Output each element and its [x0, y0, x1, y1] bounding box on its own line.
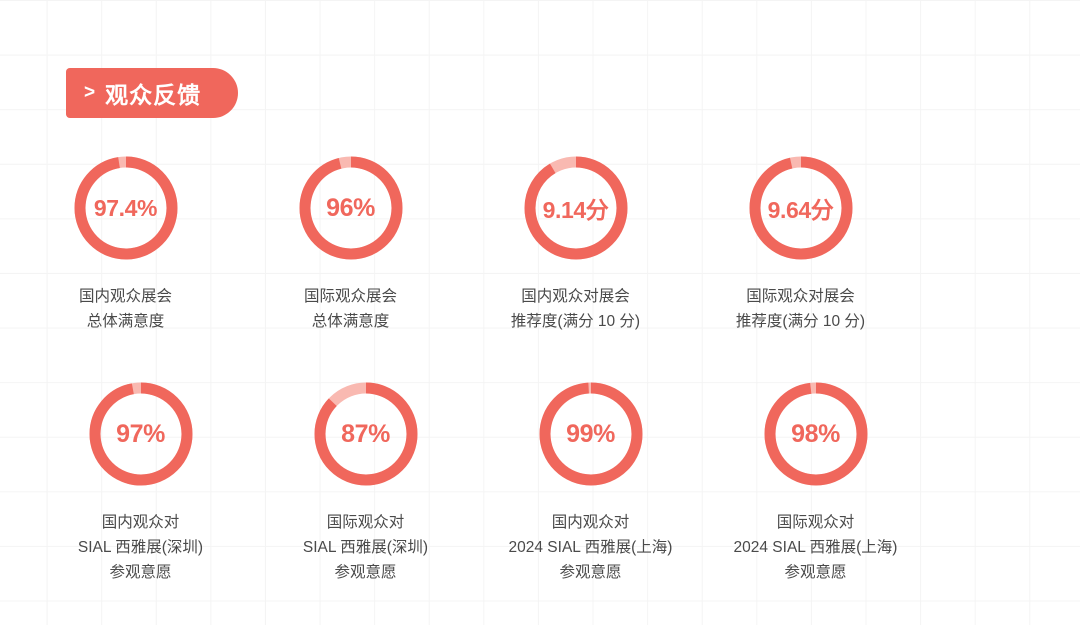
- stat-label: 国际观众对SIAL 西雅展(深圳)参观意愿: [303, 510, 428, 585]
- stat-label-line: 国际观众展会: [304, 284, 397, 309]
- stat-label: 国际观众对展会推荐度(满分 10 分): [736, 284, 865, 334]
- section-title: 观众反馈: [105, 76, 201, 110]
- stat-label: 国际观众对2024 SIAL 西雅展(上海)参观意愿: [734, 510, 898, 585]
- stat-label: 国内观众对SIAL 西雅展(深圳)参观意愿: [78, 510, 203, 585]
- stat-label: 国内观众展会总体满意度: [79, 284, 172, 334]
- stat-label-line: 总体满意度: [79, 309, 172, 334]
- stat-label-line: 总体满意度: [304, 309, 397, 334]
- donut-gauge: 87%: [310, 378, 422, 490]
- stat-label: 国际观众展会总体满意度: [304, 284, 397, 334]
- stat-label: 国内观众对展会推荐度(满分 10 分): [511, 284, 640, 334]
- donut-gauge: 98%: [760, 378, 872, 490]
- stats-row-bottom: 97%国内观众对SIAL 西雅展(深圳)参观意愿87%国际观众对SIAL 西雅展…: [0, 378, 1080, 585]
- donut-gauge: 97.4%: [70, 152, 182, 264]
- donut-value-text: 9.14分: [520, 152, 632, 264]
- stat-label-line: 参观意愿: [78, 560, 203, 585]
- stat-cell: 98%国际观众对2024 SIAL 西雅展(上海)参观意愿: [703, 378, 928, 585]
- stat-label-line: 2024 SIAL 西雅展(上海): [734, 535, 898, 560]
- stat-label-line: 2024 SIAL 西雅展(上海): [509, 535, 673, 560]
- stat-label-line: 国际观众对展会: [736, 284, 865, 309]
- stat-label-line: 推荐度(满分 10 分): [511, 309, 640, 334]
- stat-cell: 97%国内观众对SIAL 西雅展(深圳)参观意愿: [28, 378, 253, 585]
- stat-label-line: 参观意愿: [734, 560, 898, 585]
- section-header-badge: > 观众反馈: [66, 68, 238, 118]
- stat-label-line: 国际观众对: [734, 510, 898, 535]
- stat-cell: 96%国际观众展会总体满意度: [238, 152, 463, 334]
- stat-cell: 9.64分国际观众对展会推荐度(满分 10 分): [688, 152, 913, 334]
- stat-label-line: SIAL 西雅展(深圳): [303, 535, 428, 560]
- donut-value-text: 97.4%: [70, 152, 182, 264]
- stat-cell: 9.14分国内观众对展会推荐度(满分 10 分): [463, 152, 688, 334]
- stat-label: 国内观众对2024 SIAL 西雅展(上海)参观意愿: [509, 510, 673, 585]
- stat-label-line: 国内观众对: [78, 510, 203, 535]
- donut-gauge: 9.64分: [745, 152, 857, 264]
- viewer-feedback-page: > 观众反馈 97.4%国内观众展会总体满意度96%国际观众展会总体满意度9.1…: [0, 0, 1080, 625]
- donut-gauge: 97%: [85, 378, 197, 490]
- stat-label-line: 参观意愿: [509, 560, 673, 585]
- donut-value-text: 97%: [85, 378, 197, 490]
- stat-label-line: 参观意愿: [303, 560, 428, 585]
- stat-label-line: SIAL 西雅展(深圳): [78, 535, 203, 560]
- donut-value-text: 87%: [310, 378, 422, 490]
- donut-value-text: 98%: [760, 378, 872, 490]
- stats-row-top: 97.4%国内观众展会总体满意度96%国际观众展会总体满意度9.14分国内观众对…: [0, 152, 1080, 334]
- donut-gauge: 9.14分: [520, 152, 632, 264]
- stat-label-line: 国内观众对展会: [511, 284, 640, 309]
- stat-label-line: 国内观众展会: [79, 284, 172, 309]
- stat-cell: 99%国内观众对2024 SIAL 西雅展(上海)参观意愿: [478, 378, 703, 585]
- stat-cell: 87%国际观众对SIAL 西雅展(深圳)参观意愿: [253, 378, 478, 585]
- chevron-right-icon: >: [84, 83, 95, 102]
- donut-gauge: 96%: [295, 152, 407, 264]
- donut-value-text: 96%: [295, 152, 407, 264]
- stat-label-line: 国际观众对: [303, 510, 428, 535]
- donut-gauge: 99%: [535, 378, 647, 490]
- stat-label-line: 国内观众对: [509, 510, 673, 535]
- stat-label-line: 推荐度(满分 10 分): [736, 309, 865, 334]
- stat-cell: 97.4%国内观众展会总体满意度: [13, 152, 238, 334]
- donut-value-text: 99%: [535, 378, 647, 490]
- donut-value-text: 9.64分: [745, 152, 857, 264]
